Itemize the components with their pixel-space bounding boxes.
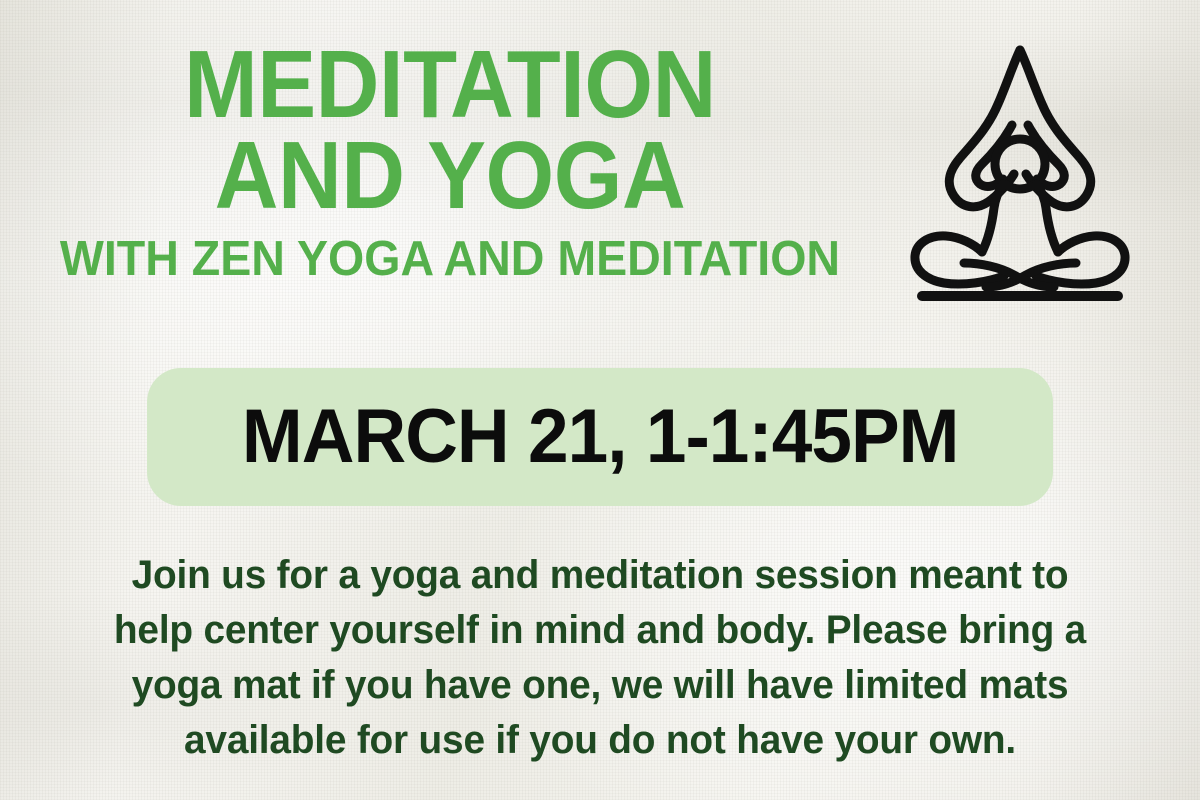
event-date-time: MARCH 21, 1-1:45PM [242,399,959,475]
page-title-line-1: MEDITATION [36,40,864,129]
poster-content: MEDITATION AND YOGA WITH ZEN YOGA AND ME… [0,0,1200,800]
event-description: Join us for a yoga and meditation sessio… [60,548,1140,768]
yoga-lotus-pose-icon [900,32,1140,312]
description-line: help center yourself in mind and body. P… [76,603,1124,658]
description-line: Join us for a yoga and meditation sessio… [76,548,1124,603]
heading-block: MEDITATION AND YOGA WITH ZEN YOGA AND ME… [0,40,900,284]
description-line: yoga mat if you have one, we will have l… [76,658,1124,713]
page-title-line-2: AND YOGA [36,131,864,220]
page-subtitle: WITH ZEN YOGA AND MEDITATION [23,235,878,284]
date-banner: MARCH 21, 1-1:45PM [147,368,1053,506]
description-line: available for use if you do not have you… [76,713,1124,768]
